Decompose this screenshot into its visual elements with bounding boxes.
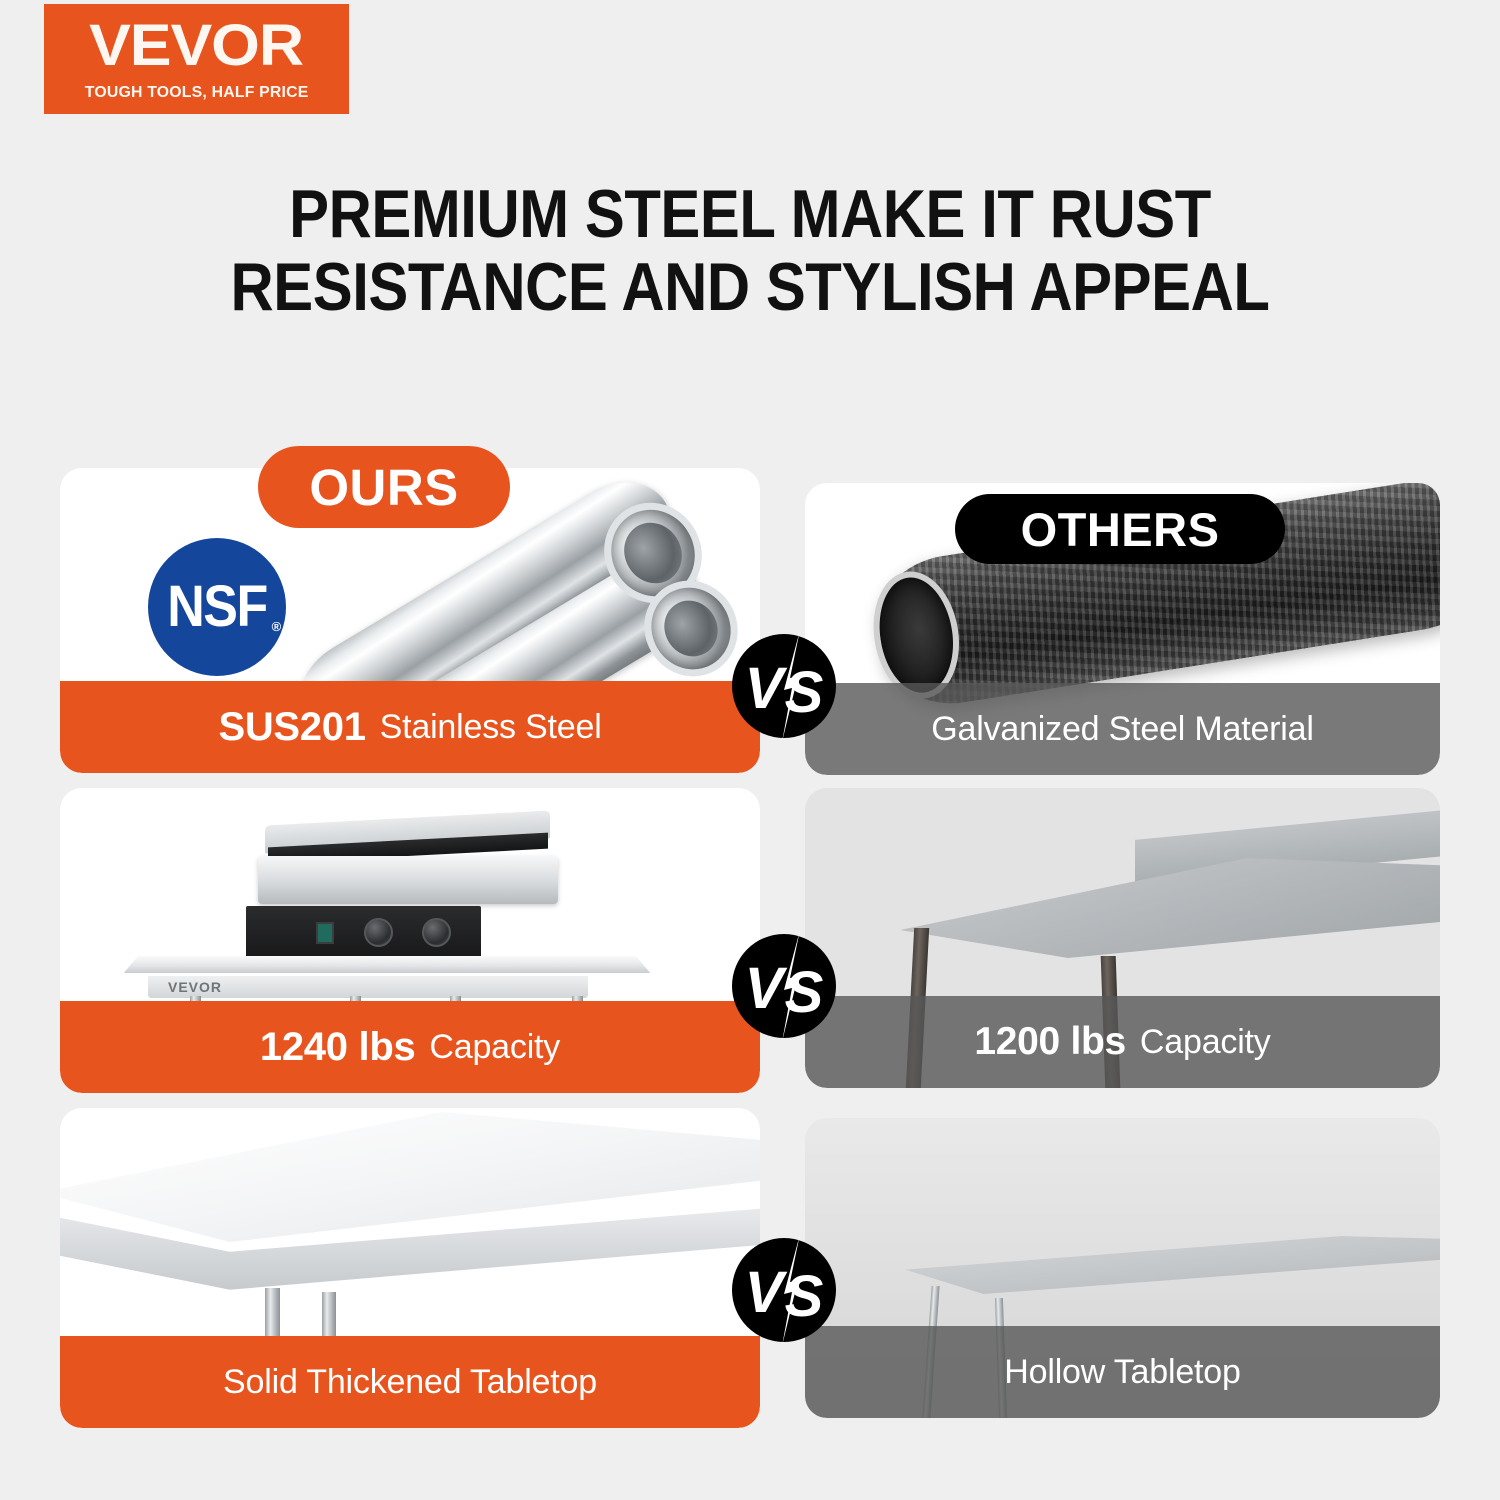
svg-text:V: V [745, 1260, 788, 1325]
comparison-card-others-tabletop: Hollow Tabletop [805, 1118, 1440, 1418]
brand-name: VEVOR [90, 17, 304, 75]
nsf-label: NSF [167, 575, 267, 640]
caption-label: Hollow Tabletop [1004, 1353, 1240, 1392]
caption-label: Solid Thickened Tabletop [223, 1363, 597, 1402]
nsf-certification-icon: NSF ® [148, 538, 286, 676]
caption-label: Capacity [429, 1028, 560, 1067]
badge-ours: OURS [258, 446, 510, 528]
caption-ours-tabletop: Solid Thickened Tabletop [60, 1336, 760, 1428]
svg-text:V: V [745, 656, 788, 721]
griddle-body [258, 856, 558, 904]
comparison-card-ours-tabletop: Solid Thickened Tabletop [60, 1108, 760, 1428]
headline-line-2: RESISTANCE AND STYLISH APPEAL [90, 251, 1410, 324]
registered-mark-icon: ® [272, 620, 280, 633]
caption-value: SUS201 [218, 705, 365, 750]
caption-value: 1240 lbs [260, 1025, 416, 1070]
caption-value: 1200 lbs [974, 1020, 1126, 1064]
griddle-knob-right [422, 918, 451, 947]
griddle-control-panel [246, 906, 481, 958]
page-title: PREMIUM STEEL MAKE IT RUST RESISTANCE AN… [90, 178, 1410, 325]
caption-label: Stainless Steel [380, 708, 602, 747]
brand-tagline: TOUGH TOOLS, HALF PRICE [85, 84, 309, 102]
caption-others-tabletop: Hollow Tabletop [805, 1326, 1440, 1418]
headline-line-1: PREMIUM STEEL MAKE IT RUST [90, 178, 1410, 251]
caption-others-capacity: 1200 lbs Capacity [805, 996, 1440, 1088]
comparison-card-others-capacity: 1200 lbs Capacity [805, 788, 1440, 1088]
work-table-top [124, 956, 650, 973]
vevor-logo: VEVOR TOUGH TOOLS, HALF PRICE [44, 4, 349, 114]
griddle-knob-left [364, 918, 393, 947]
caption-label: Galvanized Steel Material [931, 710, 1313, 749]
caption-ours-capacity: 1240 lbs Capacity [60, 1001, 760, 1093]
vs-icon: V S [726, 928, 842, 1044]
hollow-tabletop-surface [905, 1236, 1440, 1294]
comparison-card-ours-capacity: VEVOR 1240 lbs Capacity [60, 788, 760, 1093]
badge-others-label: OTHERS [1021, 502, 1220, 557]
caption-others-material: Galvanized Steel Material [805, 683, 1440, 775]
badge-others: OTHERS [955, 494, 1285, 564]
vs-icon: V S [726, 628, 842, 744]
vs-icon: V S [726, 1232, 842, 1348]
caption-label: Capacity [1140, 1023, 1271, 1062]
table-brand-mark: VEVOR [168, 979, 222, 995]
griddle-display [316, 922, 334, 944]
badge-ours-label: OURS [309, 458, 458, 517]
caption-ours-material: SUS201 Stainless Steel [60, 681, 760, 773]
svg-text:V: V [745, 956, 788, 1021]
